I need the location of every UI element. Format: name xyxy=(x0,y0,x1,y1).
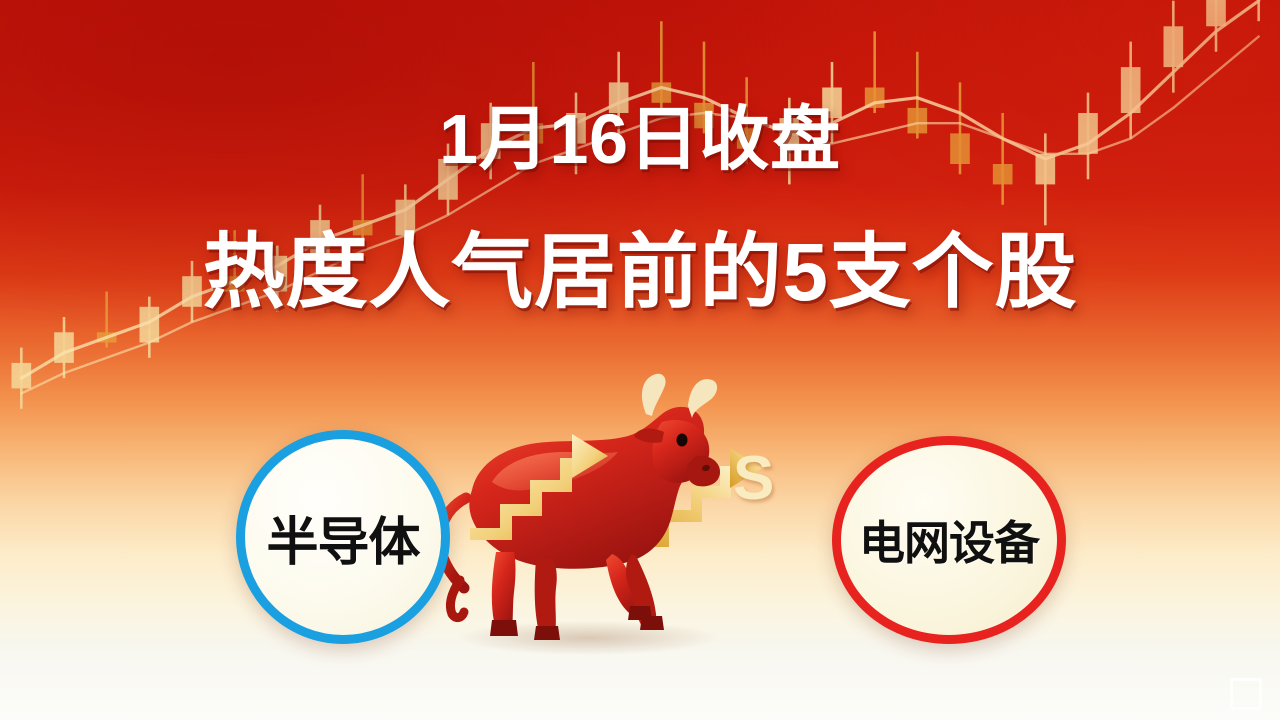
category-badge-grid-equipment[interactable]: 电网设备 xyxy=(832,436,1066,644)
letter-s-decoration: S xyxy=(733,443,774,514)
bull-illustration xyxy=(400,370,880,670)
candle-body xyxy=(1206,0,1226,26)
promo-graphic-canvas: 1月16日收盘 热度人气居前的5支个股 xyxy=(0,0,1280,720)
moving-average-lines xyxy=(21,1,1258,394)
candle-body xyxy=(1164,26,1184,67)
watermark-box-icon xyxy=(1230,678,1262,710)
category-badge-label: 电网设备 xyxy=(859,507,1039,573)
moving-average-line xyxy=(21,1,1258,378)
watermark xyxy=(1224,678,1262,710)
headline-line-1: 1月16日收盘 xyxy=(0,104,1280,174)
headline-line-2: 热度人气居前的5支个股 xyxy=(0,232,1280,314)
category-badge-label: 半导体 xyxy=(266,500,419,575)
moving-average-line xyxy=(21,37,1258,394)
category-badge-semiconductor[interactable]: 半导体 xyxy=(236,430,450,644)
candlestick-series xyxy=(12,0,1269,409)
